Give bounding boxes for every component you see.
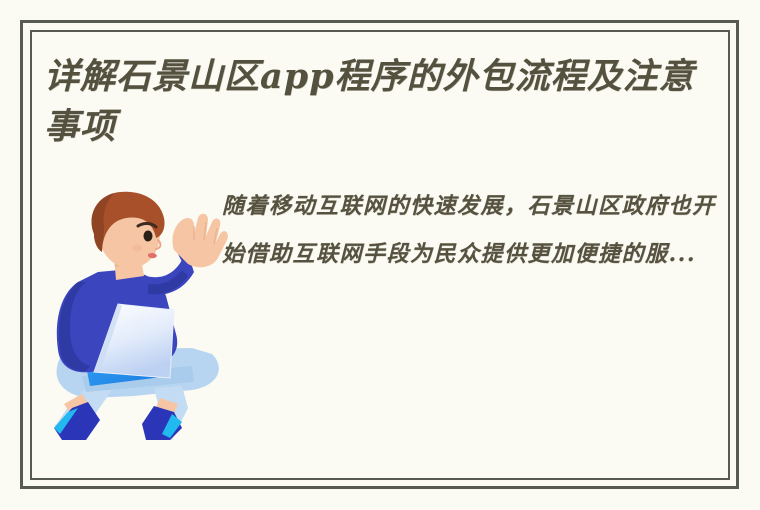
article-card: 详解石景山区app程序的外包流程及注意事项 <box>0 0 760 510</box>
article-excerpt: 随着移动互联网的快速发展，石景山区政府也开始借助互联网手段为民众提供更加便捷的服… <box>222 182 730 278</box>
person-sitting-with-laptop-waving-icon <box>42 190 238 440</box>
eye <box>144 231 153 242</box>
article-title: 详解石景山区app程序的外包流程及注意事项 <box>44 52 730 152</box>
hero-illustration <box>42 190 238 440</box>
cheek-blush <box>132 245 142 252</box>
